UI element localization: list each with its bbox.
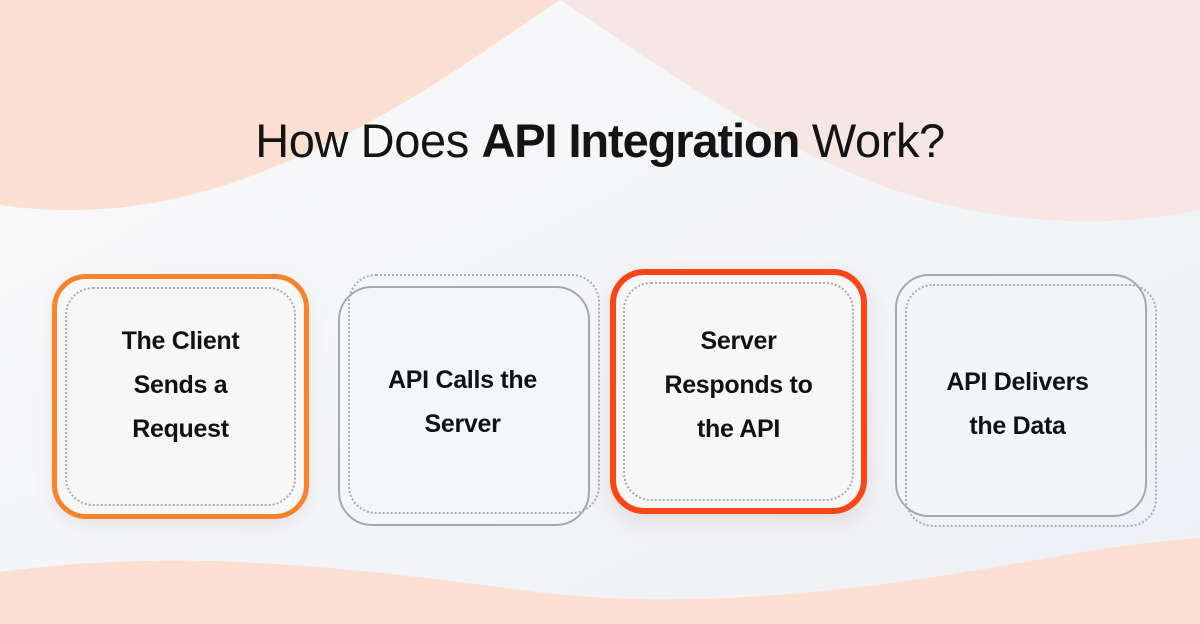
step-card-3-line-3: the API [610,407,867,451]
step-card-1-line-1: The Client [52,319,309,363]
step-card-list: The Client Sends a Request API Calls the… [0,0,1200,624]
step-card-4[interactable]: API Delivers the Data [895,274,1152,519]
step-card-3-line-1: Server [610,319,867,363]
step-card-3-label: Server Responds to the API [610,319,867,451]
step-card-4-line-2: the Data [889,404,1146,448]
step-card-4-label: API Delivers the Data [889,360,1146,448]
step-card-1-line-2: Sends a [52,363,309,407]
step-card-2[interactable]: API Calls the Server [338,274,595,519]
step-card-2-line-1: API Calls the [334,358,591,402]
infographic-root: How Does API Integration Work? The Clien… [0,0,1200,624]
step-card-4-line-1: API Delivers [889,360,1146,404]
step-card-1[interactable]: The Client Sends a Request [52,274,309,519]
step-card-3[interactable]: Server Responds to the API [610,269,867,514]
step-card-2-line-2: Server [334,402,591,446]
step-card-2-label: API Calls the Server [334,358,591,446]
step-card-1-label: The Client Sends a Request [52,319,309,451]
step-card-3-line-2: Responds to [610,363,867,407]
step-card-1-line-3: Request [52,407,309,451]
